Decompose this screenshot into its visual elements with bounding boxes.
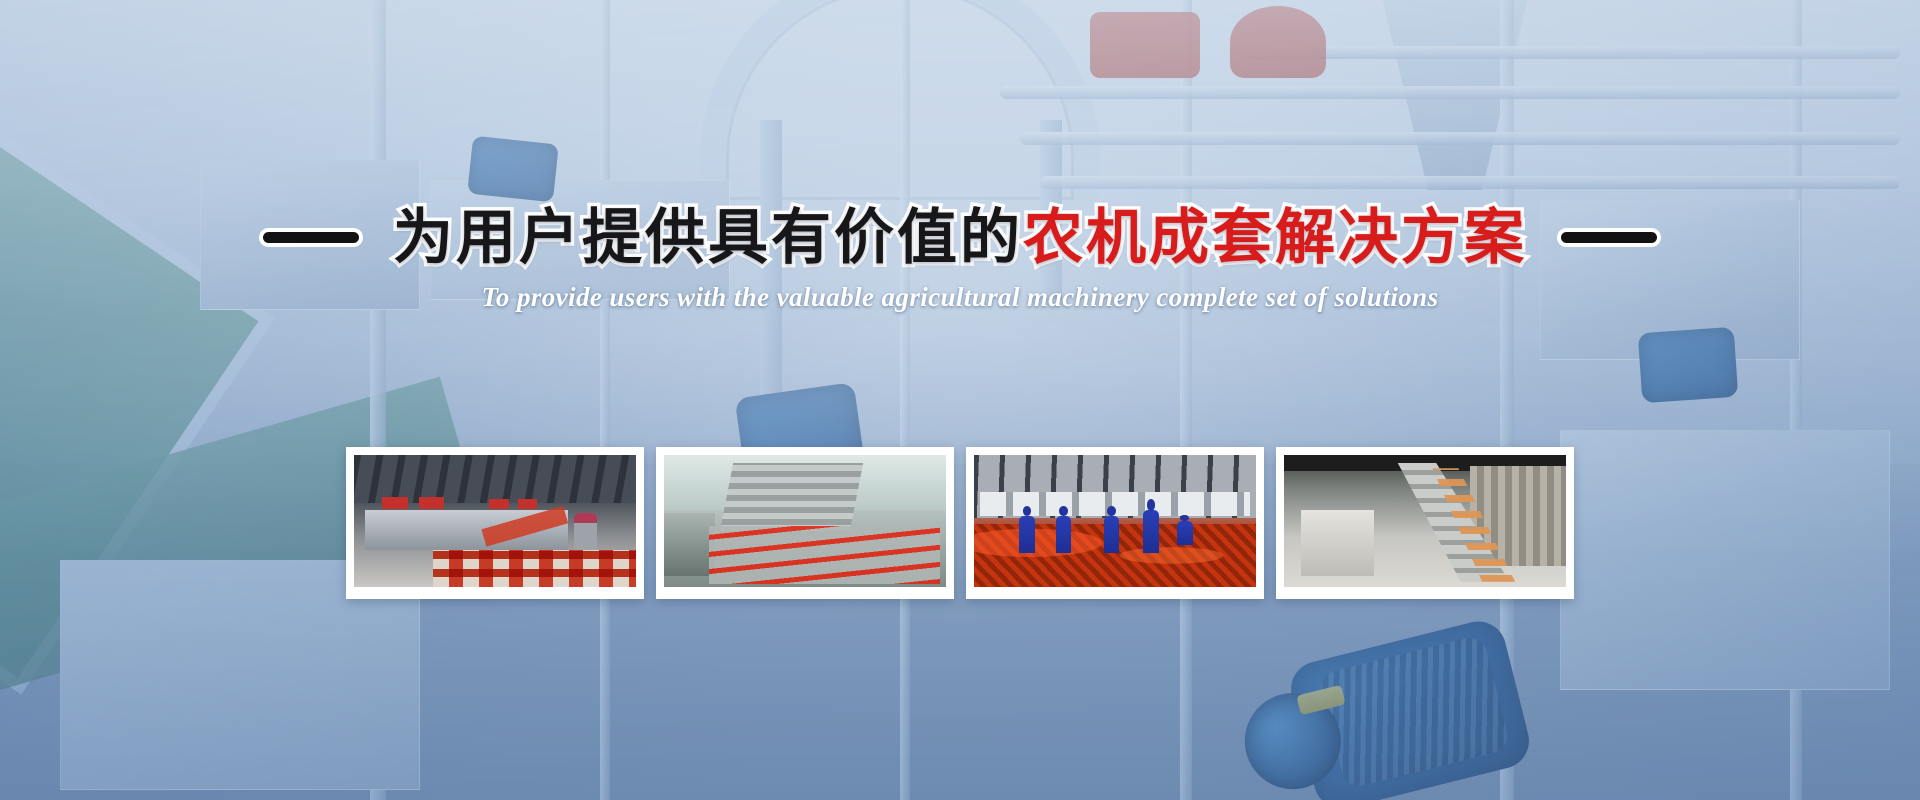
headline-row: 为用户提供具有价值的农机成套解决方案 [0, 206, 1920, 269]
thumbnail-stainless-conveyor-image [664, 455, 946, 587]
worker-figure [1143, 510, 1159, 552]
thumbnail-workers-spreading-image [974, 455, 1256, 587]
thumbnail-incline-conveyor[interactable] [1276, 447, 1574, 599]
thumbnail-drying-line-image [354, 455, 636, 587]
page-title: 为用户提供具有价值的农机成套解决方案 [393, 206, 1527, 269]
red-sign [489, 499, 509, 510]
hero-banner: 为用户提供具有价值的农机成套解决方案 To provide users with… [0, 0, 1920, 800]
red-sign [518, 499, 538, 510]
red-sign [419, 497, 444, 509]
headline-red-text: 农机成套解决方案 [1023, 204, 1527, 271]
thumbnail-strip [0, 447, 1920, 599]
worker-figure [1104, 516, 1120, 553]
page-subtitle: To provide users with the valuable agric… [0, 282, 1920, 313]
roof-structure [354, 455, 636, 503]
worker-figure [1056, 516, 1072, 553]
side-machine [664, 513, 715, 576]
tomato-rows [709, 526, 940, 584]
left-dash-decoration [263, 232, 359, 243]
thumbnail-stainless-conveyor[interactable] [656, 447, 954, 599]
worker-figure [1019, 516, 1035, 553]
worker-figure [1177, 521, 1193, 545]
thumbnail-workers-spreading[interactable] [966, 447, 1264, 599]
thumbnail-incline-conveyor-image [1284, 455, 1566, 587]
headline-dark-text: 为用户提供具有价值的 [393, 204, 1023, 271]
washer-cabinet [1301, 510, 1374, 576]
drying-trays [433, 550, 636, 587]
right-dash-decoration [1561, 232, 1657, 243]
banner-content: 为用户提供具有价值的农机成套解决方案 To provide users with… [0, 0, 1920, 800]
red-sign [382, 497, 407, 509]
thumbnail-drying-line[interactable] [346, 447, 644, 599]
